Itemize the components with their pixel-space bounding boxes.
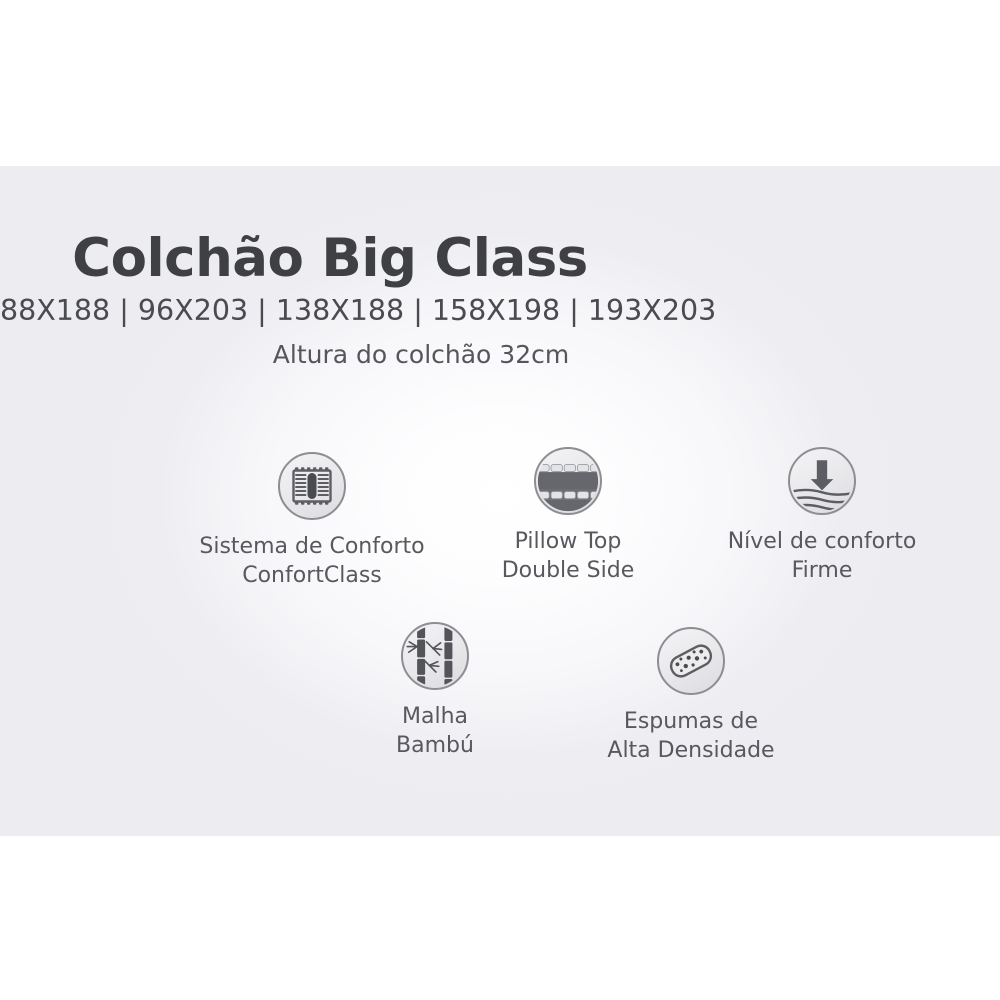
pocket-spring-icon — [278, 452, 346, 520]
foam-block-icon — [657, 627, 725, 695]
feature-pillow-top-label: Pillow Top Double Side — [438, 527, 698, 585]
feature-spring: Sistema de Conforto ConfortClass — [182, 452, 442, 590]
page-title: Colchão Big Class — [0, 230, 660, 287]
feature-foam-label: Espumas de Alta Densidade — [561, 707, 821, 765]
pillow-top-icon — [534, 447, 602, 515]
firmness-arrow-icon — [788, 447, 856, 515]
feature-bamboo: Malha Bambú — [305, 622, 565, 760]
feature-bamboo-label: Malha Bambú — [305, 702, 565, 760]
feature-spring-label: Sistema de Conforto ConfortClass — [182, 532, 442, 590]
feature-pillow-top: Pillow Top Double Side — [438, 447, 698, 585]
feature-foam: Espumas de Alta Densidade — [561, 627, 821, 765]
size-list: 88X188 | 96X203 | 138X188 | 158X198 | 19… — [0, 294, 660, 328]
heading-block: Colchão Big Class 88X188 | 96X203 | 138X… — [0, 230, 660, 370]
feature-firmness-label: Nível de conforto Firme — [692, 527, 952, 585]
bamboo-icon — [401, 622, 469, 690]
mattress-height-note: Altura do colchão 32cm — [0, 340, 660, 370]
product-infographic: Colchão Big Class 88X188 | 96X203 | 138X… — [0, 0, 1000, 1000]
feature-firmness: Nível de conforto Firme — [692, 447, 952, 585]
